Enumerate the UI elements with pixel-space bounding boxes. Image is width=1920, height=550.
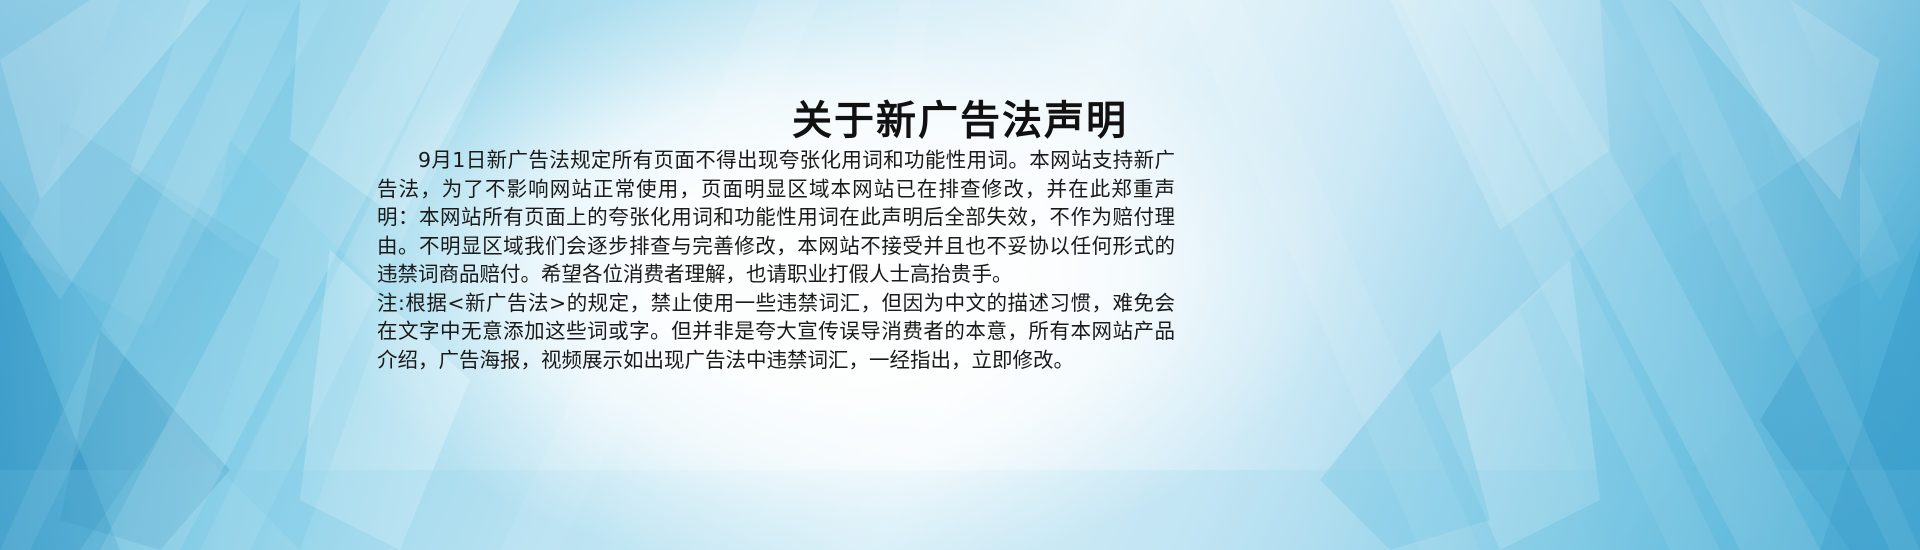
statement-text-block: 9月1日新广告法规定所有页面不得出现夸张化用词和功能性用词。本网站支持新广告法，… (377, 146, 1175, 374)
page-title: 关于新广告法声明 (0, 88, 1920, 146)
statement-banner: 关于新广告法声明 9月1日新广告法规定所有页面不得出现夸张化用词和功能性用词。本… (0, 0, 1920, 550)
statement-paragraph-1: 9月1日新广告法规定所有页面不得出现夸张化用词和功能性用词。本网站支持新广告法，… (377, 146, 1175, 289)
statement-content: 关于新广告法声明 9月1日新广告法规定所有页面不得出现夸张化用词和功能性用词。本… (0, 0, 1920, 550)
statement-paragraph-2: 注:根据<新广告法>的规定，禁止使用一些违禁词汇，但因为中文的描述习惯，难免会在… (377, 289, 1175, 375)
